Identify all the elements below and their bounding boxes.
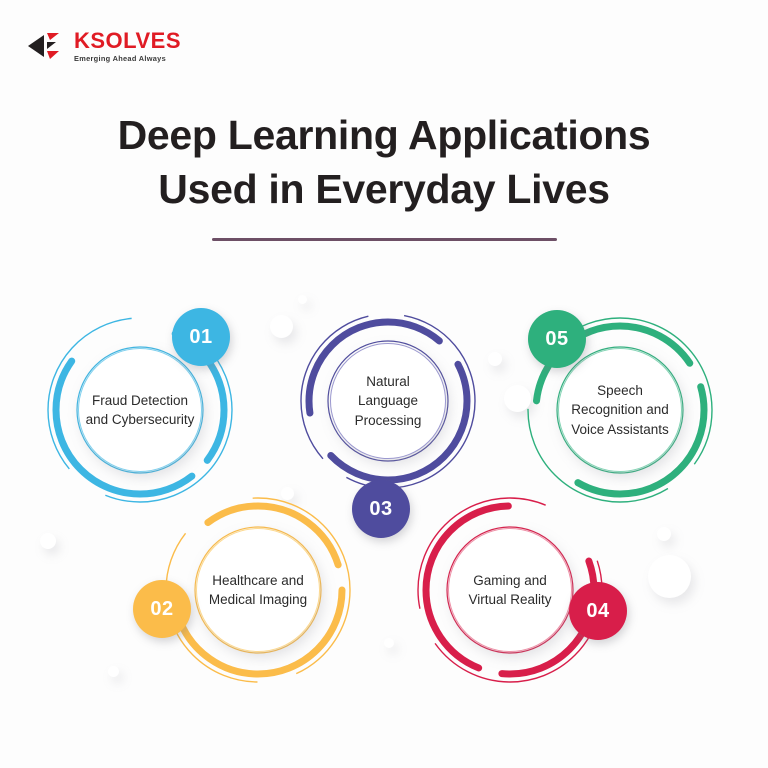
node-01-number: 01 bbox=[189, 326, 212, 349]
node-03-badge: 03 bbox=[352, 480, 410, 538]
brand-logo: KSOLVES Emerging Ahead Always bbox=[28, 30, 181, 62]
title-divider bbox=[212, 238, 557, 241]
node-01-badge: 01 bbox=[172, 308, 230, 366]
node-05[interactable]: Speech Recognition and Voice Assistants … bbox=[522, 312, 718, 508]
title-line-1: Deep Learning Applications bbox=[0, 108, 768, 162]
node-01[interactable]: Fraud Detection and Cybersecurity 01 bbox=[42, 312, 238, 508]
node-02-badge: 02 bbox=[133, 580, 191, 638]
node-02-disc: Healthcare and Medical Imaging bbox=[196, 528, 320, 652]
title-line-2: Used in Everyday Lives bbox=[0, 162, 768, 216]
brand-tagline: Emerging Ahead Always bbox=[74, 55, 181, 62]
decor-bubble bbox=[40, 533, 56, 549]
node-04-disc: Gaming and Virtual Reality bbox=[448, 528, 572, 652]
node-04[interactable]: Gaming and Virtual Reality 04 bbox=[412, 492, 608, 688]
node-02-number: 02 bbox=[150, 598, 173, 621]
decor-bubble bbox=[384, 638, 394, 648]
node-03-disc: Natural Language Processing bbox=[330, 343, 446, 459]
node-04-label: Gaming and Virtual Reality bbox=[449, 571, 571, 609]
ksolves-mark-icon bbox=[28, 32, 68, 60]
brand-name: KSOLVES bbox=[74, 30, 181, 52]
decor-bubble bbox=[108, 666, 119, 677]
node-04-badge: 04 bbox=[569, 582, 627, 640]
decor-bubble bbox=[657, 527, 671, 541]
node-05-number: 05 bbox=[545, 328, 568, 351]
node-02-label: Healthcare and Medical Imaging bbox=[197, 571, 319, 609]
node-05-badge: 05 bbox=[528, 310, 586, 368]
decor-bubble bbox=[648, 555, 691, 598]
page-title: Deep Learning Applications Used in Every… bbox=[0, 108, 768, 241]
node-03[interactable]: Natural Language Processing 03 bbox=[295, 308, 481, 494]
node-01-disc: Fraud Detection and Cybersecurity bbox=[78, 348, 202, 472]
node-05-disc: Speech Recognition and Voice Assistants bbox=[558, 348, 682, 472]
decor-bubble bbox=[488, 352, 502, 366]
node-05-label: Speech Recognition and Voice Assistants bbox=[559, 381, 681, 438]
decor-bubble bbox=[298, 295, 307, 304]
node-04-number: 04 bbox=[586, 600, 609, 623]
node-03-number: 03 bbox=[369, 498, 392, 521]
node-01-label: Fraud Detection and Cybersecurity bbox=[79, 391, 201, 429]
decor-bubble bbox=[270, 315, 293, 338]
node-02[interactable]: Healthcare and Medical Imaging 02 bbox=[160, 492, 356, 688]
node-03-label: Natural Language Processing bbox=[331, 372, 445, 429]
